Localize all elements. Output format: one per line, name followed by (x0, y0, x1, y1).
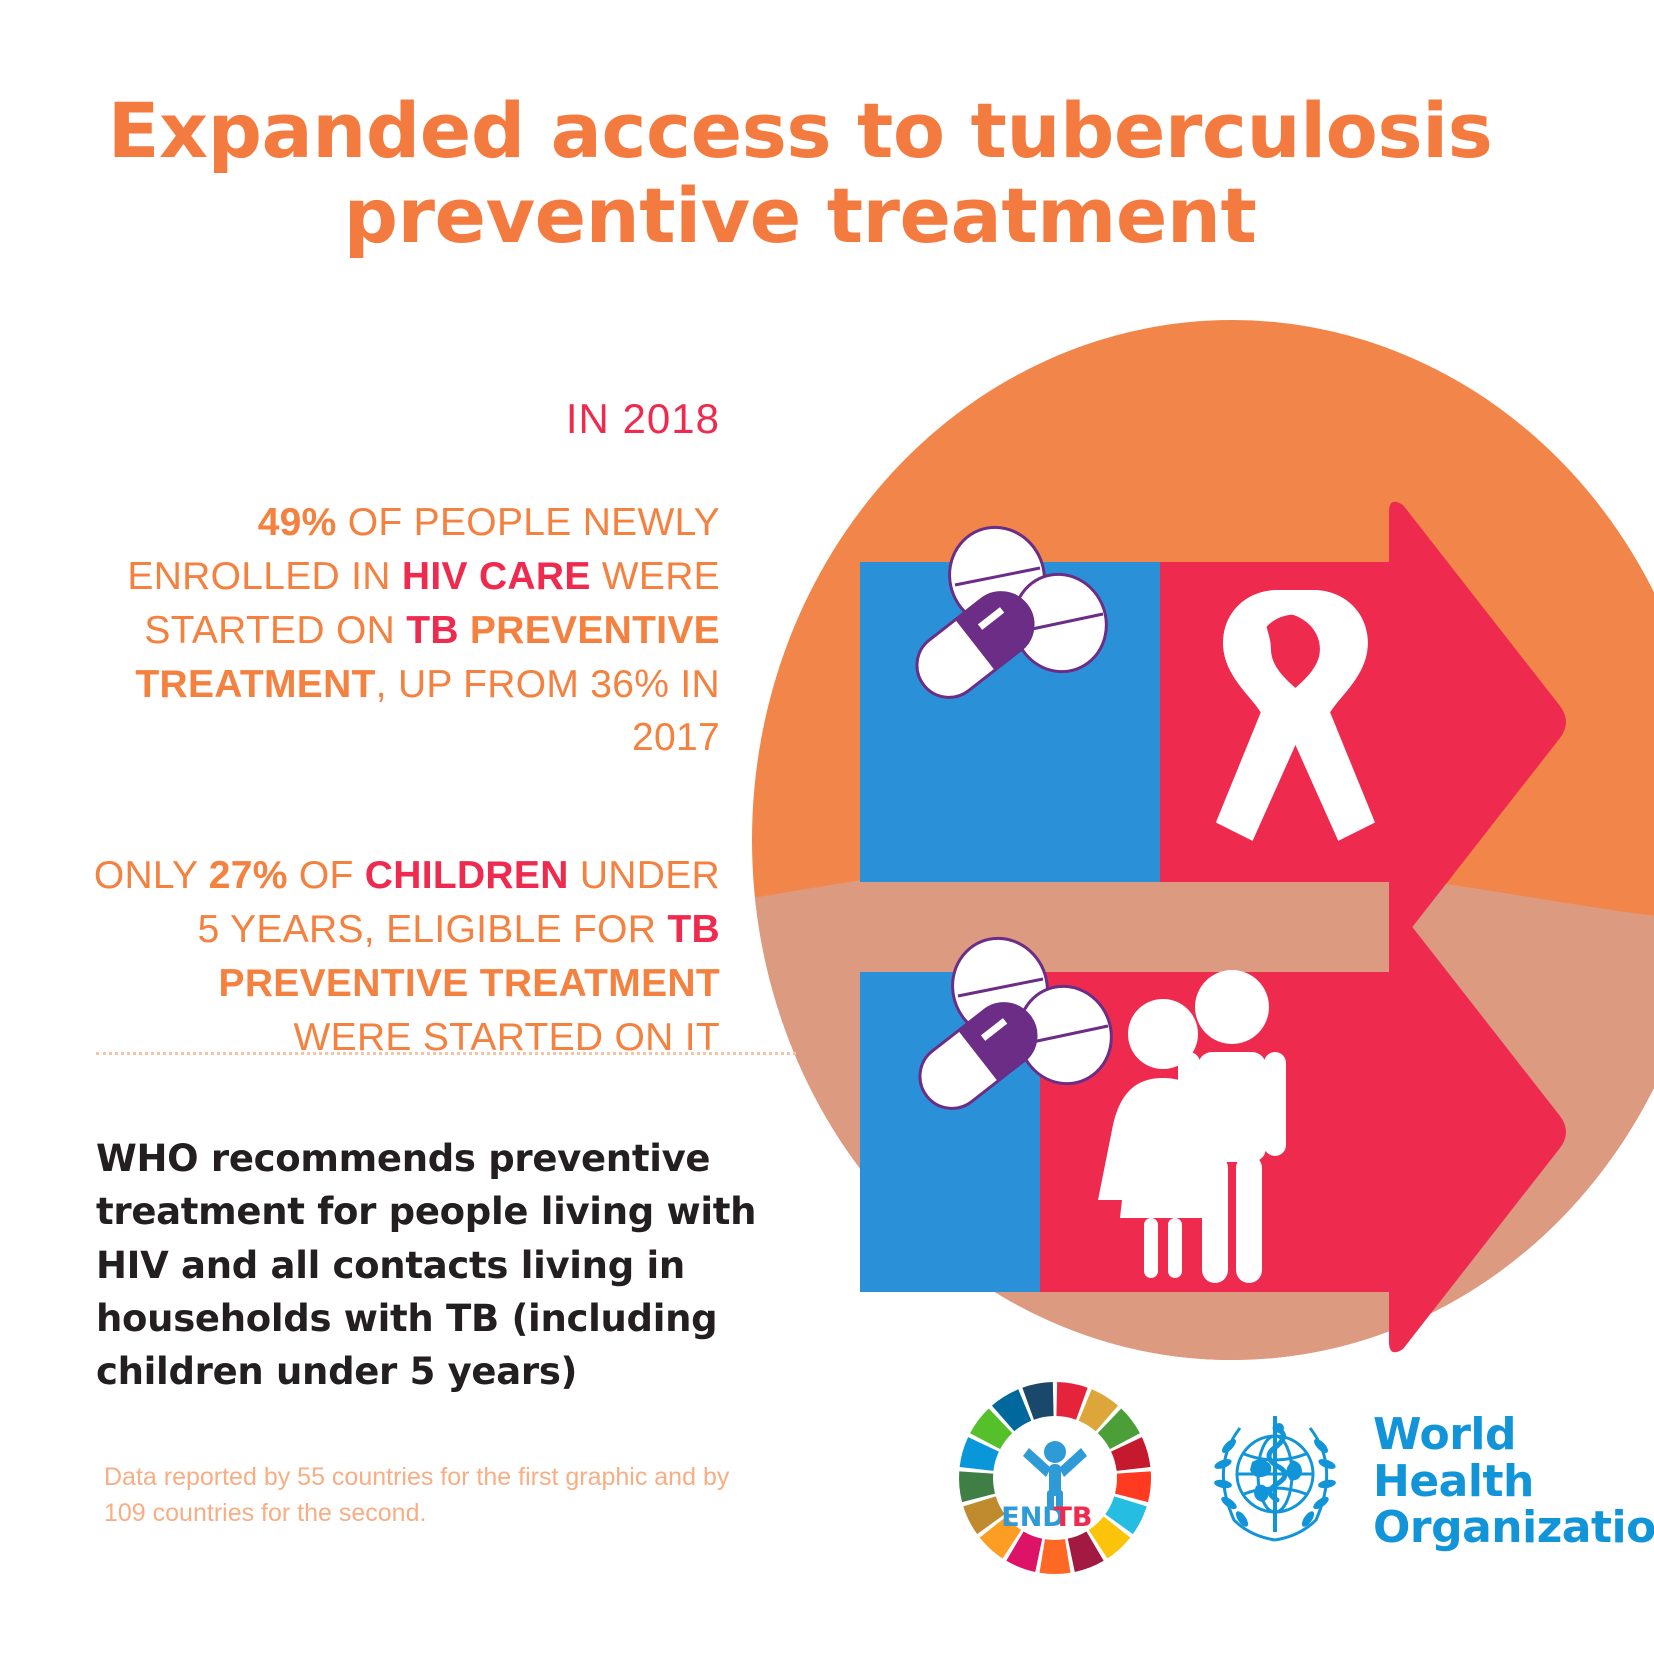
stat-children-tb-label: TB (667, 908, 720, 951)
background-wave-salmon (740, 855, 1654, 1400)
statistics-panel: IN 2018 49% OF PEOPLE NEWLY ENROLLED IN … (92, 396, 720, 1065)
sdg-wheel-segment (1115, 1471, 1151, 1502)
arrow-two-red-body (1000, 912, 1566, 1352)
who-organization-name: World Health Organization (1373, 1412, 1654, 1552)
arrow-two-red-segment (1040, 972, 1392, 1292)
stat-children: ONLY 27% OF CHILDREN UNDER 5 YEARS, ELIG… (92, 849, 720, 1064)
stat-children-percent: 27% (209, 854, 288, 897)
sdg-wheel-segment (1040, 1539, 1071, 1574)
who-recommendation-text: WHO recommends preventive treatment for … (96, 1132, 826, 1398)
logo-row: END TB (955, 1378, 1555, 1578)
aids-ribbon-icon (1216, 590, 1375, 841)
stat-hiv-percent: 49% (258, 501, 337, 544)
background-circle-orange (752, 320, 1654, 1360)
stat-children-only: ONLY (94, 854, 209, 897)
end-tb-text-tb: TB (1054, 1502, 1093, 1533)
who-emblem-logo (1200, 1400, 1350, 1550)
arrow-one-pill-icons (904, 513, 1120, 710)
sdg-wheel-segment (959, 1471, 995, 1502)
stat-hiv-text-c: , UP FROM 36% IN 2017 (376, 663, 720, 760)
data-source-footnote: Data reported by 55 countries for the fi… (104, 1460, 744, 1531)
stat-hiv-tb-label: TB (406, 609, 459, 652)
stat-children-of: OF (288, 854, 365, 897)
stat-hiv-care: 49% OF PEOPLE NEWLY ENROLLED IN HIV CARE… (92, 496, 720, 765)
dotted-divider (96, 1052, 796, 1055)
stat-children-label: CHILDREN (365, 854, 569, 897)
arrow-one-blue-segment (860, 562, 1160, 882)
end-tb-logo: END TB (955, 1378, 1155, 1578)
stat-children-tpt-label: PREVENTIVE TREATMENT (219, 962, 720, 1005)
stat-hiv-care-label: HIV CARE (402, 555, 591, 598)
arrow-one-red-body (1000, 502, 1566, 942)
arrow-two-blue-segment (860, 972, 1040, 1292)
page-title: Expanded access to tuberculosis preventi… (60, 88, 1540, 258)
year-label: IN 2018 (92, 396, 720, 442)
arrow-one-red-segment (1160, 562, 1392, 882)
arrow-two-pill-icons (907, 924, 1125, 1121)
family-two-people-icon (1098, 970, 1286, 1283)
